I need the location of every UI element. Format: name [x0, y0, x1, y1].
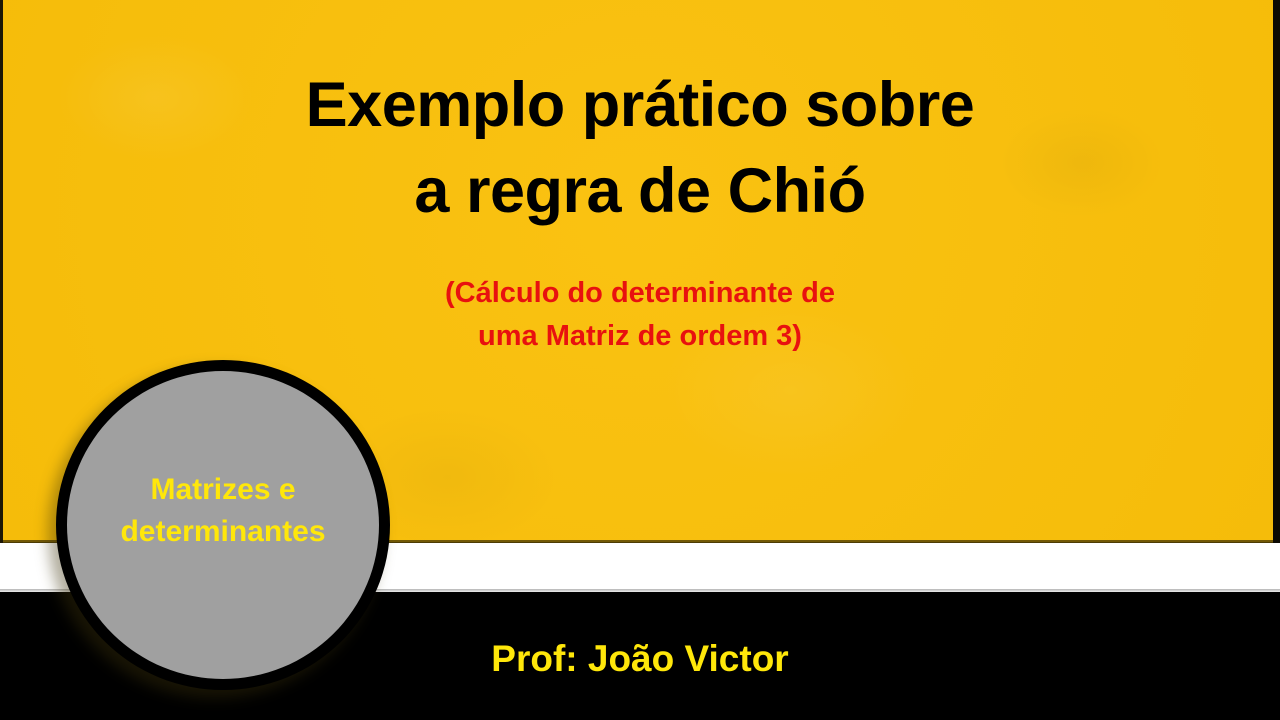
- page-title: Exemplo prático sobre a regra de Chió: [0, 62, 1280, 234]
- title-line-1: Exemplo prático sobre: [0, 62, 1280, 148]
- topic-badge-label: Matrizes e determinantes: [120, 469, 325, 553]
- subtitle-line-1: (Cálculo do determinante de: [0, 272, 1280, 315]
- topic-badge-label-line-1: Matrizes e: [120, 469, 325, 511]
- page-subtitle: (Cálculo do determinante de uma Matriz d…: [0, 272, 1280, 358]
- slide-root: Exemplo prático sobre a regra de Chió (C…: [0, 0, 1280, 720]
- presenter-name: Prof: João Victor: [0, 636, 1280, 682]
- title-line-2: a regra de Chió: [0, 148, 1280, 234]
- topic-badge-label-line-2: determinantes: [120, 511, 325, 553]
- subtitle-line-2: uma Matriz de ordem 3): [0, 315, 1280, 358]
